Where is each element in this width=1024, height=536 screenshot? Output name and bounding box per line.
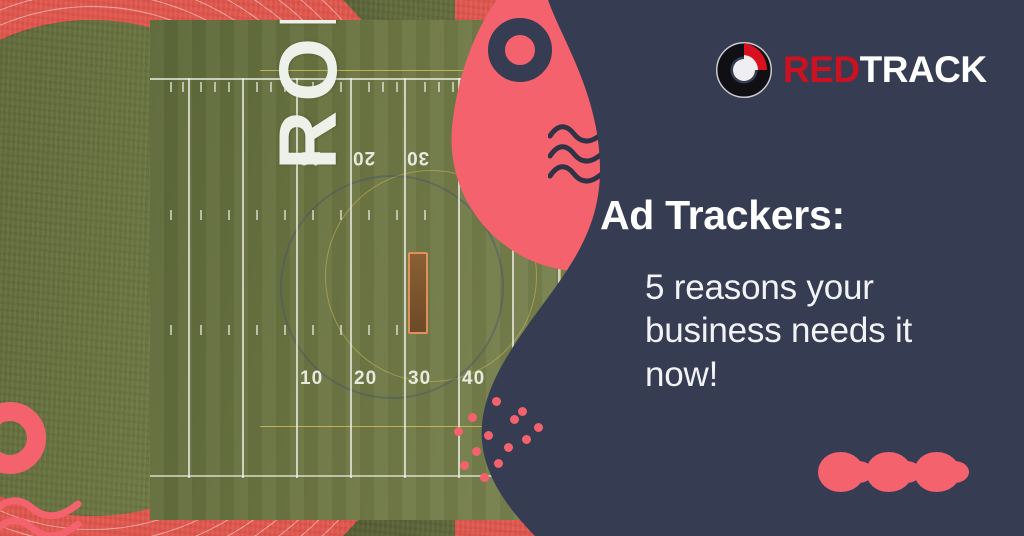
coral-dot [494,459,503,468]
coral-dot [480,473,489,482]
field-goalpost [408,252,428,334]
coral-dot [454,427,463,436]
yard-number-bottom: 20 [354,368,377,390]
hash-mark [382,82,384,92]
hash-mark [228,210,230,220]
coral-dot [518,407,527,416]
page-title: Ad Trackers: [600,192,845,239]
redtrack-donut-logo-icon [716,42,772,98]
coral-dot [484,431,493,440]
hash-mark [424,82,426,92]
hash-mark [256,210,258,220]
hash-mark [452,82,454,92]
yard-number-top: 30 [406,146,429,168]
coral-dot [492,397,501,406]
hash-mark [170,210,172,220]
hash-mark [284,325,286,335]
yard-line [188,78,190,478]
hash-mark [312,325,314,335]
ad-banner: 10 20 30 40 50 10 20 30 40 ROI [0,0,1024,536]
hash-mark [340,325,342,335]
coral-dot [534,423,543,432]
yard-line [404,78,406,478]
hash-mark [228,325,230,335]
coral-pick-shape [914,452,960,492]
hash-mark [256,325,258,335]
hash-mark [170,325,172,335]
squiggle-waves-coral [0,496,114,536]
coral-dot [522,435,531,444]
coral-pick-shape [818,452,864,492]
hash-mark [368,82,370,92]
hash-mark [396,325,398,335]
dark-ring-outline [488,18,552,82]
yard-number-bottom: 30 [408,368,431,390]
coral-dot-cluster [450,385,560,475]
logo-text-white: TRACK [860,49,987,91]
coral-dot [472,447,481,456]
coral-dot [504,443,513,452]
field-sideline-bottom [150,475,570,477]
squiggle-waves-dark [548,122,618,190]
hash-mark [368,325,370,335]
hash-mark [424,210,426,220]
hash-mark [214,82,216,92]
hash-mark [340,210,342,220]
yard-line [242,78,244,478]
coral-dot [510,415,519,424]
hash-mark [200,210,202,220]
yard-number-bottom: 10 [300,368,323,390]
page-subtitle: 5 reasons your business needs it now! [645,266,975,396]
hash-mark [200,82,202,92]
coral-pick-shape [866,452,912,492]
hash-mark [284,210,286,220]
hash-mark [438,82,440,92]
hash-mark [228,82,230,92]
hash-mark [256,82,258,92]
hash-mark [182,82,184,92]
coral-dot [468,413,477,422]
roi-field-text: ROI [262,20,356,170]
hash-mark [200,325,202,335]
hash-mark [170,82,172,92]
logo-text-red: RED [783,49,860,91]
coral-dot [460,461,469,470]
redtrack-logo[interactable]: RED TRACK [716,42,987,98]
hash-mark [396,82,398,92]
hash-mark [312,210,314,220]
hash-mark [396,210,398,220]
hash-mark [368,210,370,220]
